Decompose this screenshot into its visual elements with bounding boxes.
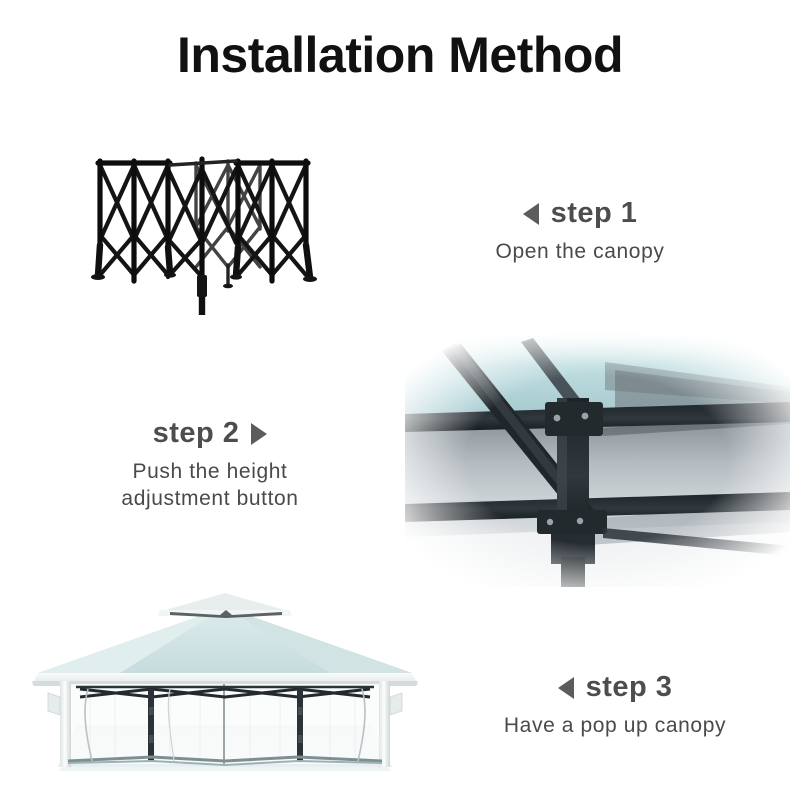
step-3-description: Have a pop up canopy [460, 713, 770, 740]
assembled-gazebo-photo [20, 585, 430, 780]
gazebo-illustration [20, 585, 430, 780]
step-2-heading: step 2 [60, 418, 360, 450]
folded-canopy-frame-photo: .bar { stroke:#141414; stroke-width:4.2;… [78, 135, 328, 315]
step-3-heading-label: step 3 [586, 672, 673, 704]
step-3-block: step 3 Have a pop up canopy [460, 672, 770, 740]
step-2-heading-label: step 2 [153, 418, 240, 450]
triangle-right-icon [251, 423, 267, 445]
step-1-heading-label: step 1 [551, 198, 638, 230]
triangle-left-icon [523, 203, 539, 225]
corner-joint-closeup-photo [405, 332, 790, 587]
installation-method-infographic: Installation Method .bar { stroke:#14141… [0, 0, 800, 800]
step-1-heading: step 1 [430, 198, 730, 230]
page-title: Installation Method [0, 28, 800, 83]
step-1-block: step 1 Open the canopy [430, 198, 730, 266]
frame-illustration: .bar { stroke:#141414; stroke-width:4.2;… [78, 135, 328, 315]
step-2-block: step 2 Push the height adjustment button [60, 418, 360, 513]
step-2-description: Push the height adjustment button [60, 459, 360, 513]
step-3-heading: step 3 [460, 672, 770, 704]
triangle-left-icon [558, 677, 574, 699]
joint-illustration [405, 332, 790, 587]
step-1-description: Open the canopy [430, 239, 730, 266]
